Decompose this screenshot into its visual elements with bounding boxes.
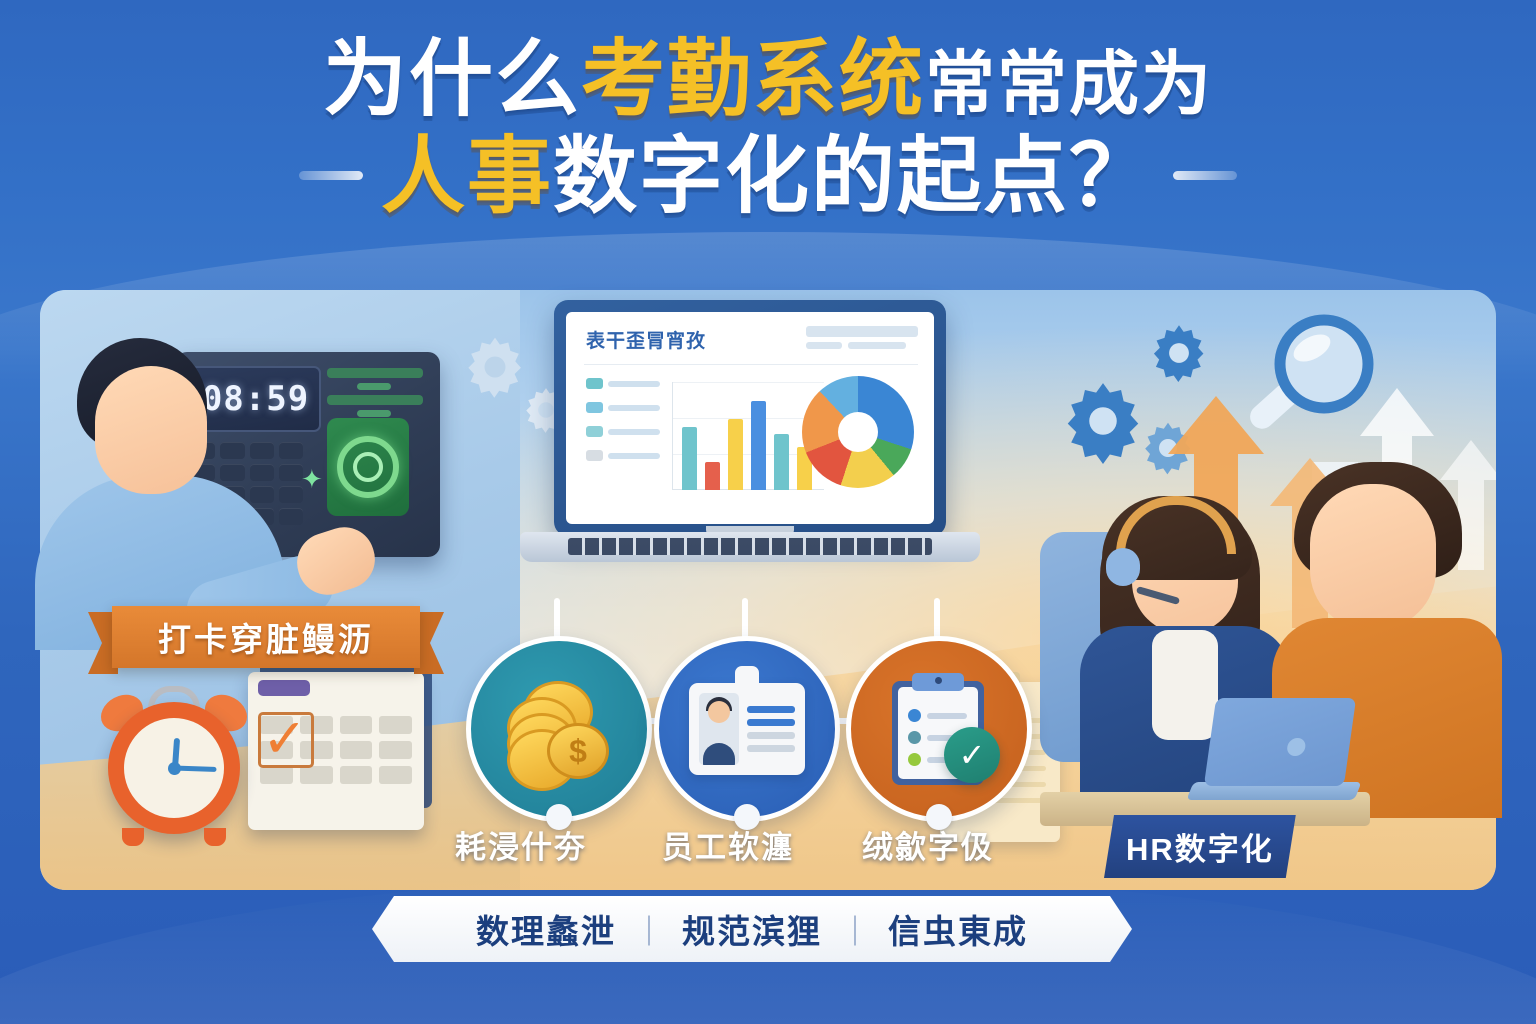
staff-laptop — [1190, 698, 1350, 808]
laptop-dashboard: 表干歪冐宵孜 — [520, 300, 980, 600]
clipboard-check-icon: ✓ — [886, 673, 992, 785]
title-accent-2: 人事 — [381, 129, 553, 223]
bottom-item-2: 规范滨狸 — [682, 905, 822, 953]
bar — [774, 434, 789, 490]
bottom-summary-bar: 数理蠡泄 ｜ 规范滨狸 ｜ 信虫東成 — [372, 896, 1132, 962]
node-approval[interactable]: ✓ — [846, 636, 1032, 822]
node-label-approval: 绒歙字伋 — [862, 822, 994, 867]
bar — [682, 427, 697, 490]
ribbon-label: 打卡穿脏鳗沥 — [158, 613, 374, 661]
bar — [728, 419, 743, 490]
terminal-status-leds — [327, 368, 423, 422]
node-payroll[interactable]: $ — [466, 636, 652, 822]
orange-ribbon-banner: 打卡穿脏鳗沥 — [88, 606, 444, 668]
coins-stack-icon: $ — [501, 679, 617, 779]
fingerprint-scanner-icon[interactable] — [327, 418, 409, 516]
dashboard-screen: 表干歪冐宵孜 — [566, 312, 934, 524]
title-part-2: 常常成为 — [925, 45, 1213, 123]
id-card-icon — [689, 683, 805, 775]
donut-chart — [802, 376, 914, 488]
alarm-clock-icon — [100, 686, 250, 836]
dashboard-title: 表干歪冐宵孜 — [586, 326, 706, 353]
node-label-employee-profile: 员工软瀍 — [662, 822, 794, 867]
calendar-check-icon: ✓ — [248, 672, 424, 830]
dashboard-divider — [584, 364, 918, 365]
dollar-coin-icon: $ — [547, 723, 609, 779]
check-badge-icon: ✓ — [944, 727, 1000, 783]
hr-digital-banner: HR数字化 — [1104, 815, 1296, 878]
dashboard-header-chips — [806, 326, 918, 349]
title-part-1: 为什么 — [323, 32, 581, 126]
bottom-separator: ｜ — [634, 907, 664, 951]
page-title: 为什么考勤系统常常成为 人事数字化的起点？ — [0, 34, 1536, 221]
title-dash-right-icon — [1173, 171, 1237, 180]
gear-icon — [1146, 320, 1212, 386]
infographic-poster: 为什么考勤系统常常成为 人事数字化的起点？ — [0, 0, 1536, 1024]
bar — [751, 401, 766, 490]
node-employee-profile[interactable] — [654, 636, 840, 822]
title-accent-1: 考勤系统 — [581, 32, 925, 126]
bottom-item-1: 数理蠡泄 — [476, 905, 616, 953]
hr-consultation-scene — [1040, 440, 1500, 840]
bar — [705, 462, 720, 490]
employee-punching-card — [35, 320, 305, 650]
laptop-lid: 表干歪冐宵孜 — [554, 300, 946, 536]
title-line-1: 为什么考勤系统常常成为 — [0, 34, 1536, 125]
title-line-2: 人事数字化的起点？ — [0, 131, 1536, 222]
laptop-keyboard — [568, 538, 932, 555]
hr-banner-label: HR数字化 — [1126, 832, 1274, 867]
node-label-payroll: 耗浸什夯 — [455, 822, 587, 867]
title-dash-left-icon — [299, 171, 363, 180]
employee-consulting — [1310, 484, 1436, 630]
title-part-3: 数字化的起点？ — [553, 129, 1155, 223]
ribbon-body: 打卡穿脏鳗沥 — [112, 606, 420, 668]
bottom-item-3: 信虫東成 — [888, 905, 1028, 953]
chart-legend — [586, 378, 660, 474]
bottom-separator: ｜ — [840, 907, 870, 951]
